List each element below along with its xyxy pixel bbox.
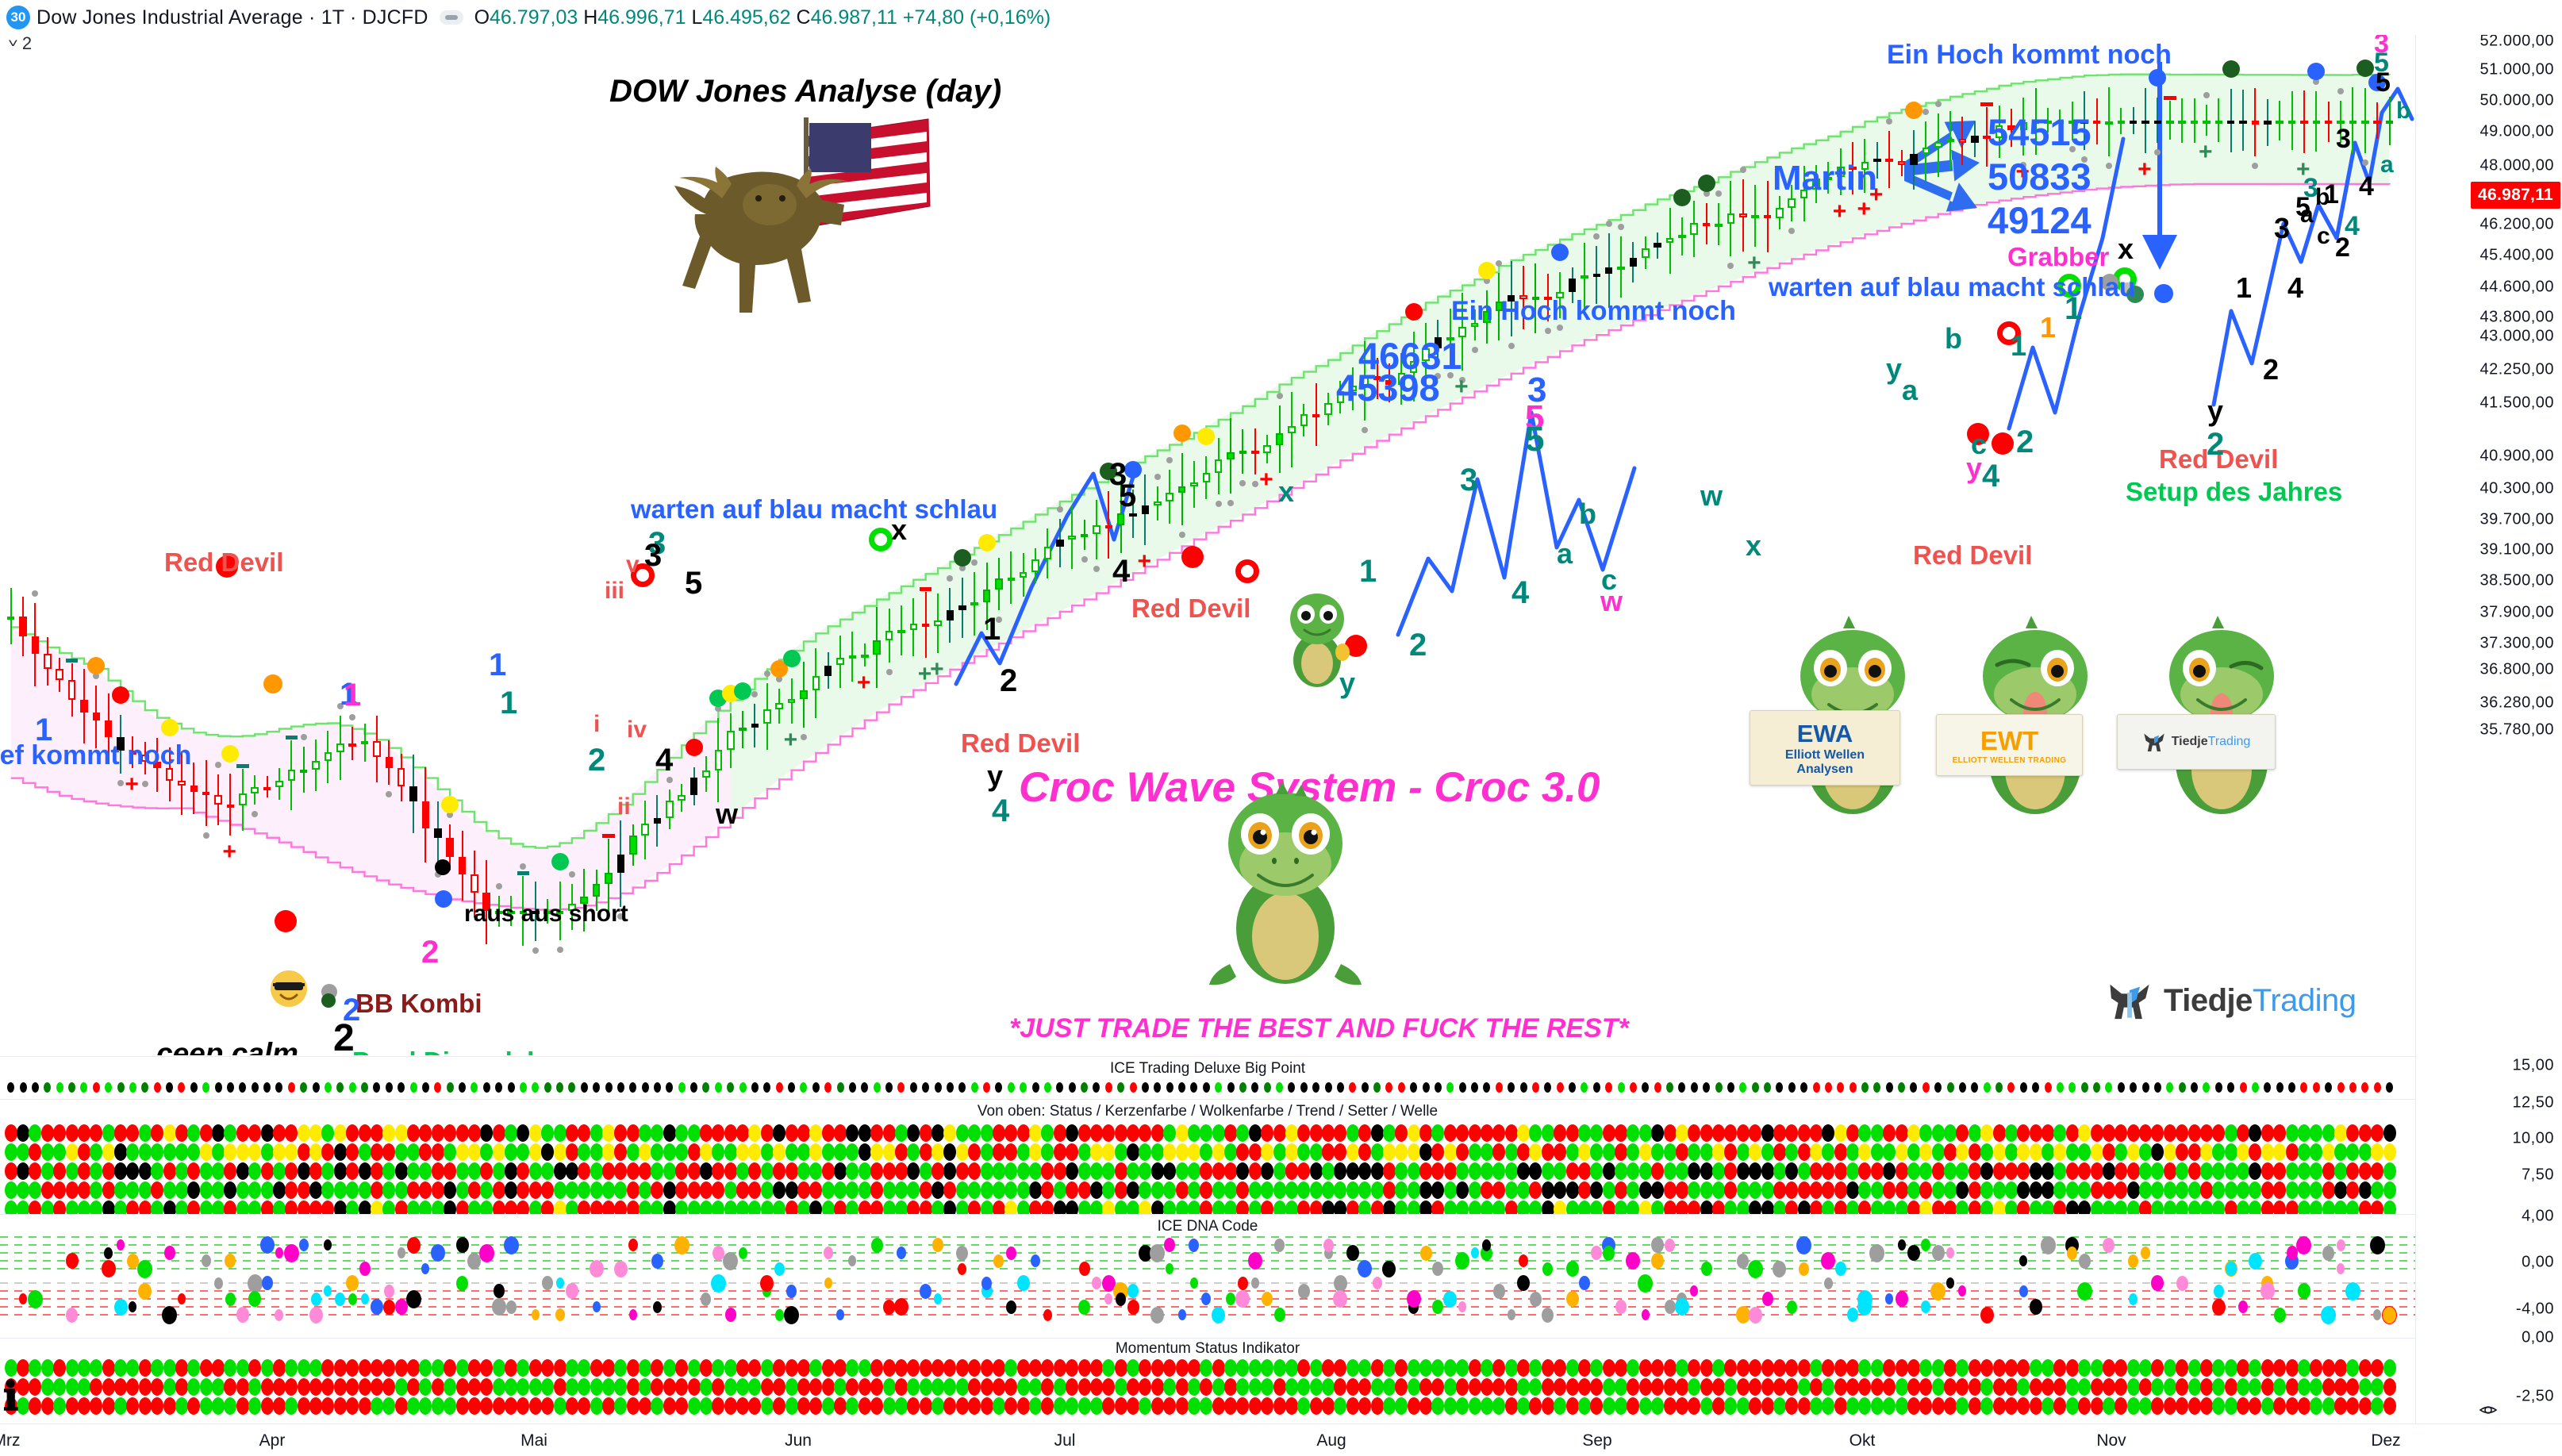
indicator-dot <box>2383 1397 2396 1415</box>
candlestick <box>1910 130 1918 190</box>
candlestick <box>2203 105 2211 136</box>
dash-marker <box>920 587 932 591</box>
indicator-dot <box>444 1397 456 1415</box>
indicator-dot <box>2053 1124 2066 1142</box>
indicator-dot <box>29 1359 41 1377</box>
dna-point <box>2067 1247 2077 1260</box>
indicator-dot <box>1566 1397 1579 1415</box>
candle-body <box>641 824 649 836</box>
candle-body <box>1288 426 1296 433</box>
candle-body <box>1263 445 1271 452</box>
candlestick <box>263 776 271 797</box>
indicator-dot <box>2151 1359 2164 1377</box>
indicator-dot <box>773 1143 786 1161</box>
candle-body <box>19 617 27 636</box>
indicator-dot <box>834 1359 847 1377</box>
indicator-dot <box>907 1359 920 1377</box>
indicator-dot <box>529 1397 542 1415</box>
indicator-dot <box>407 1181 420 1199</box>
indicator-dot <box>1993 1181 2006 1199</box>
candlestick <box>1081 520 1089 550</box>
indicator-dot <box>993 1359 1005 1377</box>
indicator-dot <box>334 1143 347 1161</box>
indicator-dot <box>700 1143 713 1161</box>
indicator-dot <box>663 1124 676 1142</box>
indicator-dot <box>1566 1378 1579 1396</box>
dna-point <box>1493 1284 1505 1299</box>
indicator-dot <box>190 1082 198 1093</box>
candlestick <box>1251 428 1259 474</box>
time-scale[interactable]: MrzAprMaiJunJulAugSepOktNovDez <box>0 1423 2562 1456</box>
indicator-dot <box>1334 1143 1346 1161</box>
indicator-dot <box>1630 1082 1637 1093</box>
indicator-dot <box>2286 1397 2299 1415</box>
indicator-dot <box>1898 1082 1905 1093</box>
indicator-dot <box>1569 1082 1576 1093</box>
indicator-dot <box>995 1082 1002 1093</box>
wave-label: 4 <box>1982 460 1999 492</box>
indicator-dot <box>688 1124 701 1142</box>
indicator-dot <box>1749 1124 1761 1142</box>
indicator-dot <box>2371 1397 2383 1415</box>
candlestick <box>373 716 381 782</box>
indicator-dot <box>505 1162 517 1180</box>
indicator-dot <box>126 1181 139 1199</box>
indicator-dot <box>346 1181 359 1199</box>
secondary-legend[interactable]: ˅2 <box>8 33 32 54</box>
indicator-dot <box>1054 1378 1066 1396</box>
candlestick <box>2300 90 2308 152</box>
indicator-dot <box>187 1378 200 1396</box>
candlestick <box>1946 111 1954 170</box>
wave-label: x <box>891 516 907 544</box>
indicator-dot <box>395 1181 408 1199</box>
dna-point <box>66 1308 78 1323</box>
indicator-dot <box>1846 1181 1859 1199</box>
logo-text: TiedjeTrading <box>2164 983 2357 1019</box>
indicator-dot <box>2225 1181 2237 1199</box>
indicator-dot <box>1788 1082 1796 1093</box>
candlestick <box>361 724 369 762</box>
candlestick <box>2373 102 2381 139</box>
indicator-dot <box>956 1143 969 1161</box>
indicator-dot <box>313 1082 320 1093</box>
indicator-dot <box>1285 1124 1298 1142</box>
indicator-dot <box>993 1124 1005 1142</box>
indicator-dot <box>1383 1378 1396 1396</box>
indicator-dot <box>1919 1124 1932 1142</box>
ohlc-legend: O46.797,03 H46.996,71 L46.495,62 C46.987… <box>474 6 1051 29</box>
indicator-dot <box>651 1359 663 1377</box>
signal-dot-grey <box>1057 506 1063 513</box>
indicator-dot <box>1761 1124 1774 1142</box>
sign-ewa-sub2: Analysen <box>1796 763 1853 777</box>
indicator-dot <box>956 1162 969 1180</box>
indicator-dot <box>1773 1378 1786 1396</box>
indicator-dot <box>90 1181 102 1199</box>
indicator-dot <box>1310 1397 1323 1415</box>
indicator-dot <box>1749 1397 1761 1415</box>
indicator-dot <box>248 1359 261 1377</box>
indicator-dot <box>309 1143 322 1161</box>
indicator-dot <box>1919 1397 1932 1415</box>
indicator-dot <box>675 1359 688 1377</box>
indicator-dot <box>727 1082 734 1093</box>
indicator-dot <box>1239 1082 1246 1093</box>
indicator-dot <box>1578 1162 1591 1180</box>
candlestick <box>1312 383 1320 445</box>
indicator-dot <box>1678 1082 1685 1093</box>
indicator-dot <box>1236 1124 1249 1142</box>
indicator-dot <box>2078 1378 2091 1396</box>
indicator-dot <box>846 1143 858 1161</box>
indicator-dot <box>1566 1181 1579 1199</box>
indicator-dot <box>200 1124 213 1142</box>
indicator-dot <box>2115 1359 2127 1377</box>
dna-point <box>2212 1299 2226 1316</box>
dna-point <box>1189 1239 1199 1252</box>
price-tick: 40.900,00 <box>2480 448 2554 466</box>
indicator-dot <box>1078 1181 1091 1199</box>
indicator-dot <box>1139 1162 1151 1180</box>
indicator-dot <box>2005 1162 2018 1180</box>
indicator-dot <box>2115 1143 2127 1161</box>
indicator-dot <box>786 1124 798 1142</box>
indicator-dot <box>505 1124 517 1142</box>
indicator-dot <box>1212 1143 1225 1161</box>
indicator-dot <box>1297 1181 1310 1199</box>
price-tick: 45.400,00 <box>2480 247 2554 265</box>
indicator-dot <box>1749 1378 1761 1396</box>
indicator-dot <box>1737 1143 1750 1161</box>
indicator-dot <box>1408 1162 1420 1180</box>
indicator-dot <box>702 1082 709 1093</box>
candlestick <box>1617 236 1625 298</box>
indicator-dot <box>1310 1124 1323 1142</box>
plus-marker: + <box>1833 200 1847 224</box>
indicator-dot <box>1785 1359 1798 1377</box>
indicator-dot <box>1919 1359 1932 1377</box>
visibility-toggle-icon[interactable] <box>440 10 463 25</box>
sign-ewt-sub1: ELLIOTT WELLEN TRADING <box>1953 756 2067 765</box>
candle-body <box>1300 414 1308 426</box>
time-tick: Sep <box>1582 1431 1611 1450</box>
indicator-dot <box>1956 1143 1969 1161</box>
indicator-dot <box>334 1359 347 1377</box>
indicator-dot <box>1151 1143 1164 1161</box>
signal-dot <box>161 719 179 736</box>
indicator-dot <box>273 1181 286 1199</box>
candle-body <box>44 654 52 669</box>
symbol-title[interactable]: Dow Jones Industrial Average · 1T · DJCF… <box>36 6 428 29</box>
indicator-dot <box>346 1359 359 1377</box>
indicator-dot <box>639 1181 651 1199</box>
indicator-dot <box>468 1124 481 1142</box>
indicator-dot <box>566 1162 578 1180</box>
indicator-dot <box>2288 1082 2295 1093</box>
indicator-dot <box>568 1082 575 1093</box>
candlestick <box>1215 438 1223 494</box>
indicator-dot <box>126 1359 139 1377</box>
indicator-dot <box>175 1181 188 1199</box>
dna-point <box>1824 1277 1833 1289</box>
indicator-dot <box>1142 1082 1149 1093</box>
dna-point <box>236 1307 249 1323</box>
momentum-row-1 <box>0 1359 2415 1377</box>
candlestick <box>715 718 723 801</box>
indicator-dot <box>2322 1359 2335 1377</box>
candlestick <box>2313 91 2321 152</box>
indicator-dot <box>1712 1124 1725 1142</box>
indicator-dot <box>1188 1397 1200 1415</box>
indicator-dot <box>263 1082 271 1093</box>
indicator-dot <box>1980 1143 1993 1161</box>
croc-mascot-ewa: EWA Elliott Wellen Analysen <box>1773 611 1932 817</box>
low-label: L <box>691 6 702 29</box>
indicator-dot <box>712 1359 724 1377</box>
wave-label: b <box>1579 500 1596 528</box>
indicator-dot <box>666 1082 673 1093</box>
indicator-dot <box>1200 1378 1212 1396</box>
indicator-dot <box>1798 1181 1811 1199</box>
ice-dna-code-pane[interactable]: ICE DNA Code <box>0 1214 2415 1337</box>
dna-point <box>1603 1246 1615 1261</box>
indicator-dot <box>1408 1359 1420 1377</box>
indicator-dot <box>566 1124 578 1142</box>
candle-body <box>934 620 942 625</box>
candle-body <box>995 578 1003 590</box>
indicator-dot <box>541 1181 554 1199</box>
dna-point <box>1749 1307 1762 1323</box>
plus-marker: + <box>2199 140 2213 164</box>
indicator-dot <box>2325 1082 2332 1093</box>
indicator-dot <box>309 1124 322 1142</box>
indicator-dot <box>1469 1181 1481 1199</box>
indicator-dot <box>359 1124 371 1142</box>
candlestick <box>873 607 881 688</box>
indicator-dot <box>1078 1397 1091 1415</box>
indicator-dot <box>1151 1124 1164 1142</box>
indicator-dot <box>309 1378 322 1396</box>
indicator-dot <box>1431 1181 1444 1199</box>
indicator-dot <box>943 1397 956 1415</box>
dna-point <box>262 1276 273 1290</box>
indicator-dot <box>931 1124 944 1142</box>
indicator-dot <box>2103 1181 2115 1199</box>
dna-point <box>407 1237 421 1254</box>
candle-body <box>348 743 356 747</box>
dna-point <box>2238 1300 2248 1313</box>
plus-marker: + <box>1747 252 1761 275</box>
indicator-dot <box>41 1181 54 1199</box>
candle-body <box>1715 224 1723 227</box>
time-tick: Jun <box>785 1431 812 1450</box>
indicator-dot <box>1249 1162 1262 1180</box>
indicator-dot <box>2103 1124 2115 1142</box>
indicator-dot <box>1115 1181 1127 1199</box>
indicator-dot <box>151 1124 163 1142</box>
candlestick <box>2227 89 2235 152</box>
candle-body <box>1703 223 1711 226</box>
indicator-dot <box>1151 1359 1164 1377</box>
indicator-dot <box>444 1143 456 1161</box>
indicator-dot <box>321 1143 334 1161</box>
indicator-dot <box>1078 1359 1091 1377</box>
indicator-dot <box>407 1378 420 1396</box>
signal-dot-grey <box>1508 343 1515 349</box>
indicator-dot <box>1297 1359 1310 1377</box>
sign-ewt: EWT ELLIOTT WELLEN TRADING <box>1936 714 2083 776</box>
indicator-dot <box>1456 1378 1469 1396</box>
indicator-dot <box>993 1143 1005 1161</box>
wave-label: 3 <box>2274 214 2290 243</box>
indicator-dot <box>66 1378 79 1396</box>
indicator-dot <box>1139 1143 1151 1161</box>
candlestick <box>348 727 356 761</box>
indicator-dot <box>2359 1378 2372 1396</box>
indicator-dot <box>1846 1359 1859 1377</box>
indicator-dot <box>2310 1359 2322 1377</box>
indicator-dot <box>1919 1378 1932 1396</box>
dna-point <box>1031 1254 1040 1267</box>
candle-body <box>2118 121 2126 124</box>
candlestick <box>2252 88 2260 156</box>
dna-point <box>1530 1292 1542 1307</box>
indicator-dot <box>1322 1397 1335 1415</box>
indicator-dot <box>5 1162 17 1180</box>
indicator-dot <box>809 1397 822 1415</box>
status-rows-pane[interactable]: Von oben: Status / Kerzenfarbe / Wolkenf… <box>0 1099 2415 1218</box>
dna-point <box>2322 1246 2334 1261</box>
dna-point <box>784 1306 799 1324</box>
candle-body <box>2203 121 2211 124</box>
indicator-dot <box>53 1143 66 1161</box>
momentum-status-pane[interactable]: Momentum Status Indikator ℹ <box>0 1338 2415 1423</box>
indicator-dot <box>2188 1124 2201 1142</box>
indicator-dot <box>1041 1124 1054 1142</box>
candle-body <box>68 680 76 700</box>
indicator-dot <box>480 1378 493 1396</box>
indicator-dot <box>846 1162 858 1180</box>
indicator-dot <box>968 1162 981 1180</box>
candlestick <box>1715 203 1723 245</box>
indicator-dot <box>688 1378 701 1396</box>
indicator-dot <box>90 1162 102 1180</box>
indicator-dot <box>2359 1162 2372 1180</box>
indicator-dot <box>1883 1162 1896 1180</box>
candlestick <box>2361 88 2369 153</box>
indicator-dot <box>1798 1143 1811 1161</box>
dna-point <box>532 1309 540 1320</box>
indicator-dot <box>336 1082 344 1093</box>
indicator-dot <box>1834 1143 1847 1161</box>
indicator-dot <box>690 1082 697 1093</box>
indicator-dot <box>858 1181 871 1199</box>
indicator-dot <box>1127 1162 1139 1180</box>
indicator-dot <box>1481 1378 1493 1396</box>
candlestick <box>690 767 698 805</box>
candle-body <box>763 709 771 724</box>
indicator-dot <box>1212 1359 1225 1377</box>
indicator-dot <box>1249 1181 1262 1199</box>
dna-point <box>674 1236 689 1254</box>
indicator-dot <box>578 1143 590 1161</box>
dna-point <box>1238 1277 1248 1290</box>
chart-settings-icon[interactable] <box>2475 1400 2502 1420</box>
indicator-dot <box>1639 1397 1652 1415</box>
candle-body <box>629 836 637 855</box>
indicator-dot <box>371 1124 383 1142</box>
candlestick <box>910 598 918 656</box>
indicator-dot <box>602 1162 615 1180</box>
timeframe-badge[interactable]: 30 <box>6 6 30 29</box>
indicator-dot <box>2103 1359 2115 1377</box>
indicator-dot <box>2176 1181 2188 1199</box>
indicator-dot <box>2200 1378 2213 1396</box>
indicator-dot <box>2103 1378 2115 1396</box>
indicator-dot <box>541 1378 554 1396</box>
chevron-down-icon[interactable]: ˅ <box>8 36 18 51</box>
indicator-dot <box>2188 1378 2201 1396</box>
indicator-dot <box>870 1181 883 1199</box>
annotation-warten-blau-1: warten auf blau macht schlau <box>631 496 997 522</box>
indicator-dot <box>1236 1397 1249 1415</box>
indicator-dot <box>2176 1378 2188 1396</box>
indicator-dot <box>1395 1181 1408 1199</box>
dash-marker <box>236 764 249 768</box>
indicator-dot <box>1334 1359 1346 1377</box>
indicator-dot <box>200 1397 213 1415</box>
indicator-dot <box>663 1397 676 1415</box>
indicator-dot <box>883 1181 896 1199</box>
indicator-dot <box>2017 1397 2030 1415</box>
wave-label: 1 <box>500 687 517 719</box>
indicator-dot <box>1358 1397 1371 1415</box>
indicator-dot <box>1603 1397 1615 1415</box>
signal-dot <box>1905 102 1922 119</box>
wave-label: 2 <box>421 936 439 968</box>
indicator-dot <box>456 1162 469 1180</box>
candlestick <box>666 789 674 830</box>
dna-point <box>1006 1300 1016 1314</box>
indicator-dot <box>139 1124 152 1142</box>
indicator-dot <box>1483 1082 1490 1093</box>
indicator-dot <box>1810 1143 1823 1161</box>
logo-text-light: Trading <box>2253 983 2357 1018</box>
indicator-dot <box>444 1124 456 1142</box>
indicator-dot <box>2337 1082 2345 1093</box>
price-scale[interactable]: USD ˅ 52.000,0051.000,0050.000,0049.000,… <box>2415 0 2562 1423</box>
indicator-dot <box>1505 1124 1518 1142</box>
indicator-dot <box>2237 1162 2249 1180</box>
plus-marker: + <box>1137 550 1151 574</box>
indicator-dot <box>1664 1397 1677 1415</box>
indicator-dot <box>236 1359 249 1377</box>
dna-point <box>1226 1293 1235 1305</box>
candlestick <box>1276 405 1284 473</box>
price-chart-pane[interactable]: +++++++++++++++++ DOW Jones Analyse (day… <box>0 0 2415 1055</box>
indicator-dot <box>2346 1397 2359 1415</box>
indicator-dot <box>1444 1181 1457 1199</box>
indicator-dot <box>2103 1397 2115 1415</box>
indicator-dot <box>2212 1124 2225 1142</box>
candlestick <box>1203 456 1211 500</box>
indicator-dot <box>1188 1162 1200 1180</box>
indicator-dot <box>1139 1397 1151 1415</box>
indicator-dot <box>1066 1397 1078 1415</box>
indicator-dot <box>444 1378 456 1396</box>
indicator-dot <box>2310 1181 2322 1199</box>
